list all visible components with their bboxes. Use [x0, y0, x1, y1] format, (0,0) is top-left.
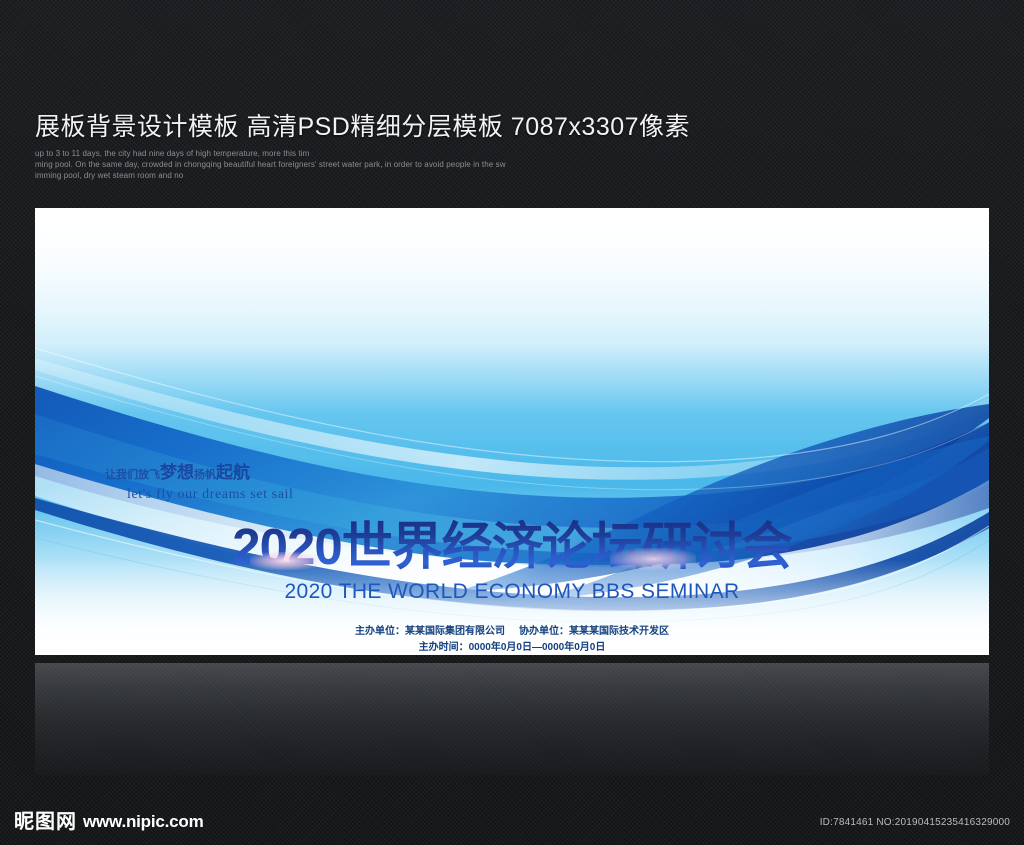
- header-description-line-2: ming pool. On the same day, crowded in c…: [35, 159, 995, 170]
- info-cn-line-2: 主办时间：0000年0月0日—0000年0月0日: [35, 640, 989, 655]
- banner-info-block: 主办单位：某某国际集团有限公司协办单位：某某某国际技术开发区 主办时间：0000…: [35, 624, 989, 655]
- slogan-cn-part3: 扬帆: [194, 469, 216, 481]
- slogan-chinese: 让我们放飞梦想扬帆起航: [105, 464, 294, 482]
- slogan-cn-part2: 梦想: [160, 463, 194, 482]
- slogan: 让我们放飞梦想扬帆起航 let's fly our dreams set sai…: [105, 464, 294, 503]
- page-title: 展板背景设计模板 高清PSD精细分层模板 7087x3307像素: [35, 112, 995, 142]
- header: 展板背景设计模板 高清PSD精细分层模板 7087x3307像素 up to 3…: [35, 112, 995, 181]
- info-cn-line-1: 主办单位：某某国际集团有限公司协办单位：某某某国际技术开发区: [35, 624, 989, 640]
- header-description-line-3: imming pool, dry wet steam room and no: [35, 170, 995, 181]
- header-description: up to 3 to 11 days, the city had nine da…: [35, 148, 995, 181]
- info-cosponsor-cn: 协办单位：某某某国际技术开发区: [519, 626, 669, 637]
- banner-title-block: 2020世界经济论坛研讨会 2020 THE WORLD ECONOMY BBS…: [35, 518, 989, 604]
- site-logo-url: www.nipic.com: [83, 812, 204, 831]
- banner-main-title: 2020世界经济论坛研讨会: [232, 518, 791, 576]
- slogan-cn-part1: 让我们放飞: [105, 469, 160, 481]
- banner-sub-title: 2020 THE WORLD ECONOMY BBS SEMINAR: [35, 580, 989, 604]
- site-logo[interactable]: 昵图网 www.nipic.com: [14, 811, 204, 831]
- banner-reflection: [35, 663, 989, 775]
- site-logo-chinese: 昵图网: [14, 811, 77, 831]
- slogan-english: let's fly our dreams set sail: [127, 487, 294, 503]
- header-description-line-1: up to 3 to 11 days, the city had nine da…: [35, 148, 995, 159]
- image-id-text: ID:7841461 NO:20190415235416329000: [820, 817, 1010, 828]
- info-organizer-cn: 主办单位：某某国际集团有限公司: [355, 626, 505, 637]
- banner-preview-image[interactable]: 让我们放飞梦想扬帆起航 let's fly our dreams set sai…: [35, 208, 989, 655]
- footer: 昵图网 www.nipic.com ID:7841461 NO:20190415…: [0, 790, 1024, 845]
- slogan-cn-part4: 起航: [216, 463, 250, 482]
